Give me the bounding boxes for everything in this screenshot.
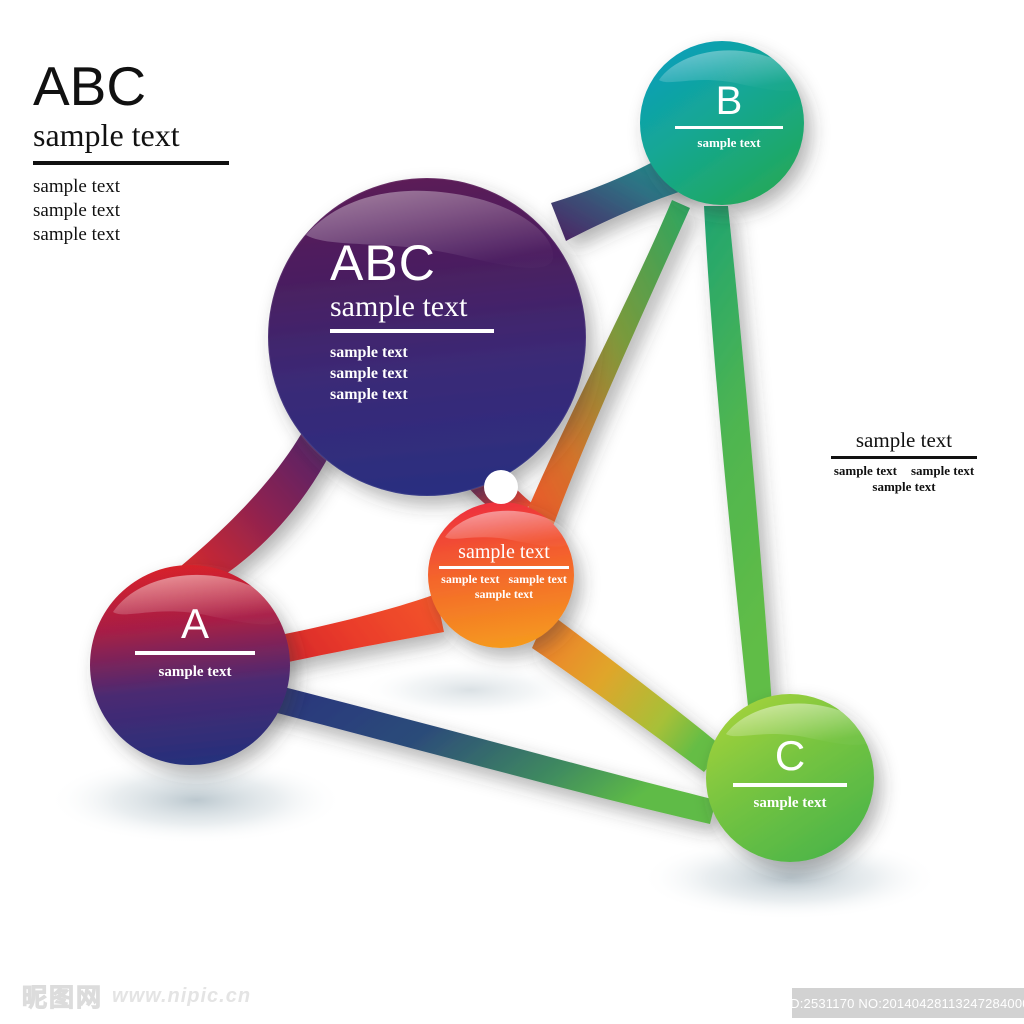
node-center[interactable] — [428, 502, 574, 648]
corner-text-block: ABC sample text sample text sample text … — [33, 57, 263, 247]
node-b[interactable] — [640, 41, 804, 205]
side-row: sample text sample text — [806, 463, 1002, 479]
side-title: sample text — [806, 428, 1002, 453]
watermark-url: www.nipic.cn — [112, 985, 251, 1008]
watermark: 昵图网 www.nipic.cn — [22, 978, 251, 1014]
side-item-3: sample text — [806, 479, 1002, 495]
watermark-logo: 昵图网 — [22, 978, 103, 1014]
node-c[interactable] — [706, 694, 874, 862]
connector-b-c — [704, 206, 772, 706]
infographic-canvas: ABC sample text sample text sample text … — [0, 0, 1024, 1024]
corner-line-2: sample text — [33, 199, 263, 223]
side-item-1: sample text — [834, 463, 897, 479]
corner-divider — [33, 161, 229, 165]
node-a[interactable] — [90, 565, 290, 765]
corner-line-3: sample text — [33, 223, 263, 247]
side-divider — [831, 456, 977, 459]
image-id-text: ID:2531170 NO:20140428113247284000 — [786, 996, 1024, 1011]
side-item-2: sample text — [911, 463, 974, 479]
side-text-block: sample text sample text sample text samp… — [806, 428, 1002, 495]
image-id-bar: ID:2531170 NO:20140428113247284000 — [792, 988, 1024, 1018]
node-hub[interactable] — [268, 178, 586, 496]
corner-subtitle: sample text — [33, 117, 263, 153]
connector-hub-a — [181, 420, 331, 588]
corner-title: ABC — [33, 57, 263, 115]
corner-line-1: sample text — [33, 175, 263, 199]
notch-hub-center — [484, 470, 518, 504]
